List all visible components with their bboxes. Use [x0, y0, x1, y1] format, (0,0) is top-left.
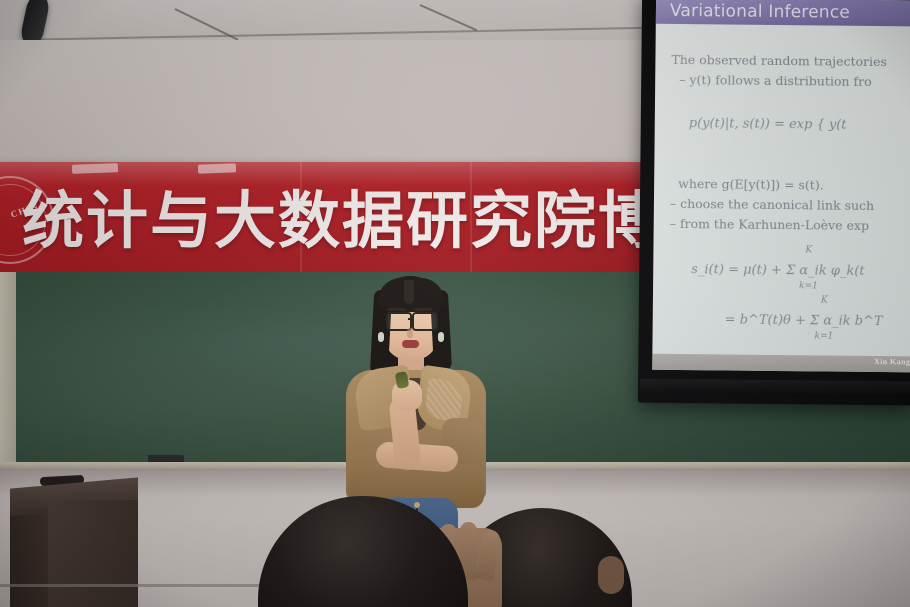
presenter-eyebrow-left — [388, 308, 406, 311]
slide-equation: p(y(t)|t, s(t)) = exp { y(t — [689, 116, 847, 133]
presenter-bang-part — [404, 280, 414, 304]
slide-author-name: Xin Kang — [874, 357, 910, 366]
lecture-hall-photo: CHINA 统计与大数据研究院博士研 — [0, 0, 910, 607]
glasses-icon — [412, 312, 438, 331]
banner-tape — [198, 163, 236, 173]
slide-footer: Xin Kang — [652, 354, 910, 373]
jeans-button-icon — [414, 502, 420, 508]
desk-edge — [0, 584, 300, 587]
slide: Variational Inference The observed rando… — [652, 0, 910, 372]
presenter-nose — [407, 328, 413, 338]
chalkboard-frame — [0, 272, 16, 470]
slide-equation-sum-lower: k=1 — [799, 281, 818, 291]
presenter-eyebrow-right — [414, 308, 432, 311]
slide-equation: s_i(t) = μ(t) + Σ α_ik φ_k(t — [691, 262, 865, 279]
slide-line: The observed random trajectories — [671, 52, 887, 69]
earring-icon — [438, 332, 444, 342]
slide-line: where g(E[y(t)]) = s(t). — [678, 176, 824, 193]
screen-bezel-bottom-bar — [640, 379, 910, 398]
banner-tape — [72, 163, 118, 174]
slide-equation-sum-upper: K — [821, 295, 828, 305]
podium-lectern — [48, 500, 138, 607]
slide-line: – choose the canonical link such — [670, 196, 874, 213]
slide-body: The observed random trajectories – y(t) … — [652, 24, 910, 357]
audience-ear — [598, 556, 624, 594]
slide-line: – from the Karhunen-Loève exp — [670, 216, 869, 233]
slide-line: – y(t) follows a distribution fro — [679, 72, 872, 89]
slide-equation-sum-upper: K — [805, 245, 812, 255]
slide-equation-sum-lower: k=1 — [815, 331, 834, 341]
slide-equation: = b^T(t)θ + Σ α_ik b^T — [725, 312, 883, 329]
glasses-bridge — [408, 318, 414, 320]
slide-title: Variational Inference — [670, 0, 850, 26]
earring-icon — [378, 332, 384, 342]
presentation-clicker-icon — [395, 371, 410, 389]
projection-screen: Variational Inference The observed rando… — [638, 0, 910, 405]
presenter-mouth — [402, 340, 419, 348]
banner-headline: 统计与大数据研究院博士研 — [22, 178, 662, 264]
